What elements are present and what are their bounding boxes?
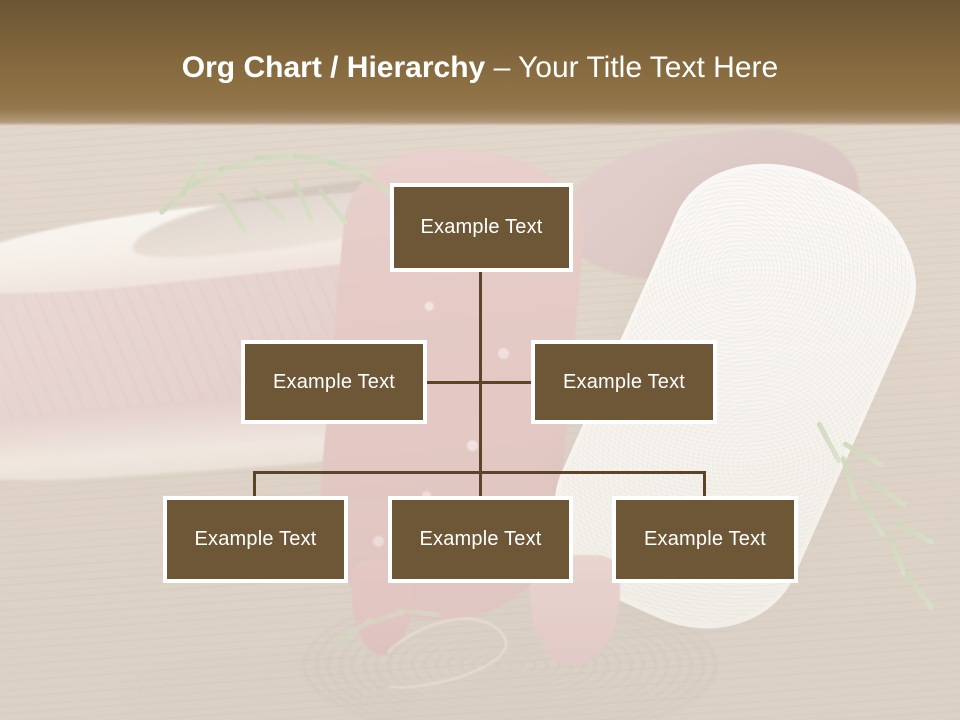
org-node-level2-left[interactable]: Example Text [241,340,427,424]
slide-canvas: Org Chart / Hierarchy – Your Title Text … [0,0,960,720]
org-node-level2-right[interactable]: Example Text [531,340,717,424]
org-node-level3-left[interactable]: Example Text [163,496,348,583]
org-node-root-label: Example Text [420,216,542,239]
org-node-level3-center[interactable]: Example Text [388,496,573,583]
org-node-level3-center-label: Example Text [419,528,541,551]
org-chart: Example Text Example Text Example Text E… [0,0,960,720]
connector-root-stem [479,272,482,472]
connector-drop-right [703,471,706,496]
org-node-level2-left-label: Example Text [273,371,395,394]
org-node-level2-right-label: Example Text [563,371,685,394]
org-node-level3-right-label: Example Text [644,528,766,551]
org-node-level3-left-label: Example Text [194,528,316,551]
org-node-level3-right[interactable]: Example Text [612,496,798,583]
connector-drop-left [253,471,256,496]
org-node-root[interactable]: Example Text [390,183,573,272]
connector-level2-horizontal [427,381,531,384]
connector-drop-center [479,471,482,496]
